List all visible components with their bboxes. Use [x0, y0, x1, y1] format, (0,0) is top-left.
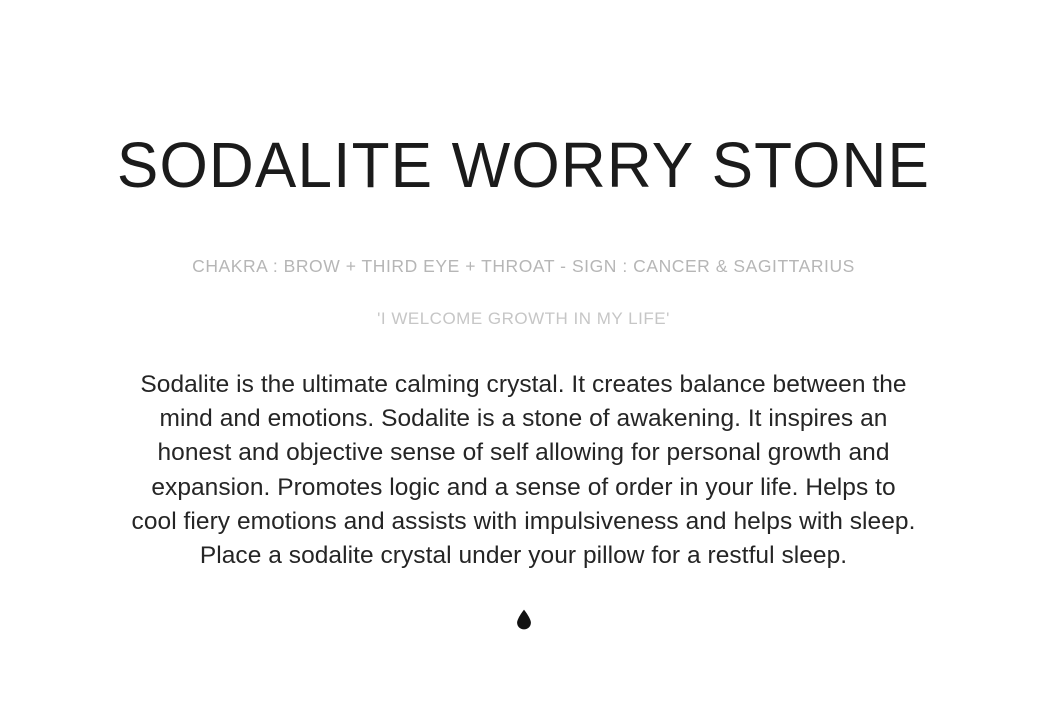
- page-title: SODALITE WORRY STONE: [16, 132, 1032, 199]
- teardrop-icon: [516, 609, 532, 630]
- chakra-and-sign-subtitle: CHAKRA : BROW + THIRD EYE + THROAT - SIG…: [0, 256, 1047, 277]
- crystal-info-card: SODALITE WORRY STONE CHAKRA : BROW + THI…: [0, 0, 1047, 725]
- description-line: mind and emotions. Sodalite is a stone o…: [73, 402, 974, 436]
- description-paragraph: Sodalite is the ultimate calming crystal…: [73, 368, 974, 573]
- description-line: cool fiery emotions and assists with imp…: [73, 505, 974, 539]
- ornament-divider: [0, 604, 1047, 634]
- description-line: honest and objective sense of self allow…: [73, 436, 974, 470]
- description-line: Place a sodalite crystal under your pill…: [73, 539, 974, 573]
- affirmation-subtitle: 'I WELCOME GROWTH IN MY LIFE': [0, 309, 1047, 329]
- description-line: expansion. Promotes logic and a sense of…: [73, 471, 974, 505]
- description-line: Sodalite is the ultimate calming crystal…: [73, 368, 974, 402]
